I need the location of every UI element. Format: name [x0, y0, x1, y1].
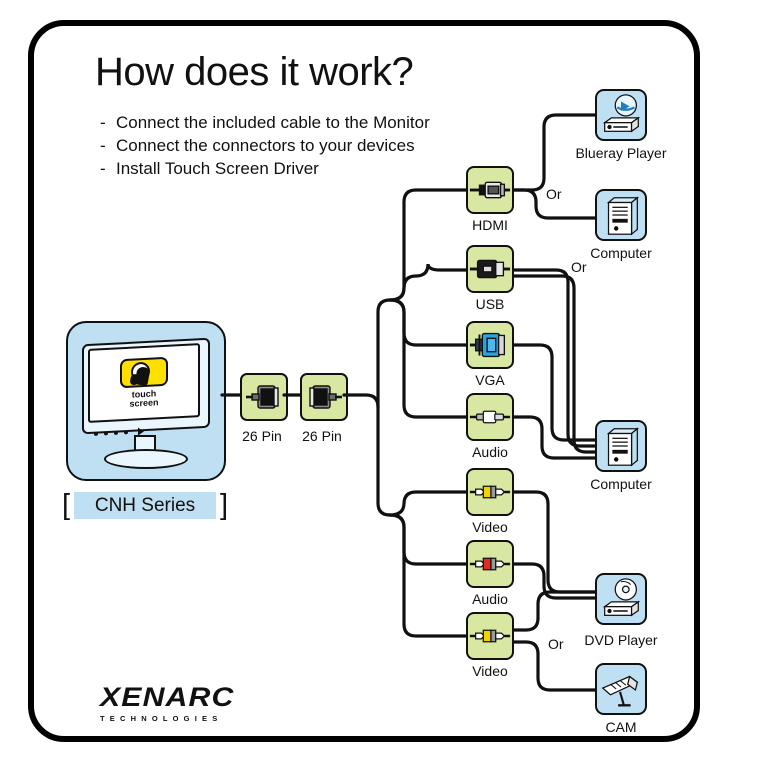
device-label-dvd-player: DVD Player — [551, 632, 691, 648]
connector-label-audio: Audio — [445, 591, 535, 607]
bullet-dash: - — [100, 159, 116, 179]
bullet-item: -Connect the connectors to your devices — [100, 136, 415, 156]
connector-label-video: Video — [445, 519, 535, 535]
logo-tagline: TECHNOLOGIES — [100, 714, 280, 723]
bullet-dash: - — [100, 136, 116, 156]
bullet-text: Connect the connectors to your devices — [116, 136, 415, 155]
or-label: Or — [548, 636, 564, 652]
device-label-cam: CAM — [551, 719, 691, 735]
device-box-computer — [595, 189, 647, 241]
pin-connector-label: 26 Pin — [287, 428, 357, 444]
device-box-computer — [595, 420, 647, 472]
connector-box-usb — [466, 245, 514, 293]
device-box-blueray-player — [595, 89, 647, 141]
monitor-illustration: touch screen — [66, 321, 226, 481]
bullet-text: Install Touch Screen Driver — [116, 159, 319, 178]
pin-connector-box — [300, 373, 348, 421]
series-label-text: CNH Series — [60, 490, 230, 522]
monitor-base — [104, 449, 188, 469]
or-label: Or — [571, 259, 587, 275]
device-label-computer: Computer — [551, 476, 691, 492]
connector-box-audio — [466, 393, 514, 441]
connector-box-audio — [466, 540, 514, 588]
connector-label-audio: Audio — [445, 444, 535, 460]
device-label-blueray-player: Blueray Player — [551, 145, 691, 161]
connector-label-usb: USB — [445, 296, 535, 312]
connector-box-hdmi — [466, 166, 514, 214]
touch-hand-icon — [120, 356, 168, 388]
screen-text-line2: screen — [129, 397, 158, 409]
brand-logo: XENARC TECHNOLOGIES — [100, 682, 280, 723]
connector-label-video: Video — [445, 663, 535, 679]
page-title: How does it work? — [95, 52, 413, 92]
bullet-item: -Connect the included cable to the Monit… — [100, 113, 430, 133]
connector-box-video — [466, 612, 514, 660]
monitor-screen-text: touch screen — [129, 389, 158, 409]
monitor-screen: touch screen — [88, 343, 200, 423]
connector-box-vga — [466, 321, 514, 369]
device-box-cam — [595, 663, 647, 715]
device-box-dvd-player — [595, 573, 647, 625]
pin-connector-box — [240, 373, 288, 421]
bullet-item: -Install Touch Screen Driver — [100, 159, 319, 179]
logo-wordmark: XENARC — [100, 682, 302, 713]
bullet-text: Connect the included cable to the Monito… — [116, 113, 430, 132]
connector-label-vga: VGA — [445, 372, 535, 388]
connector-label-hdmi: HDMI — [445, 217, 535, 233]
or-label: Or — [546, 186, 562, 202]
connector-box-video — [466, 468, 514, 516]
bullet-dash: - — [100, 113, 116, 133]
series-label: [ ] CNH Series — [60, 490, 230, 522]
